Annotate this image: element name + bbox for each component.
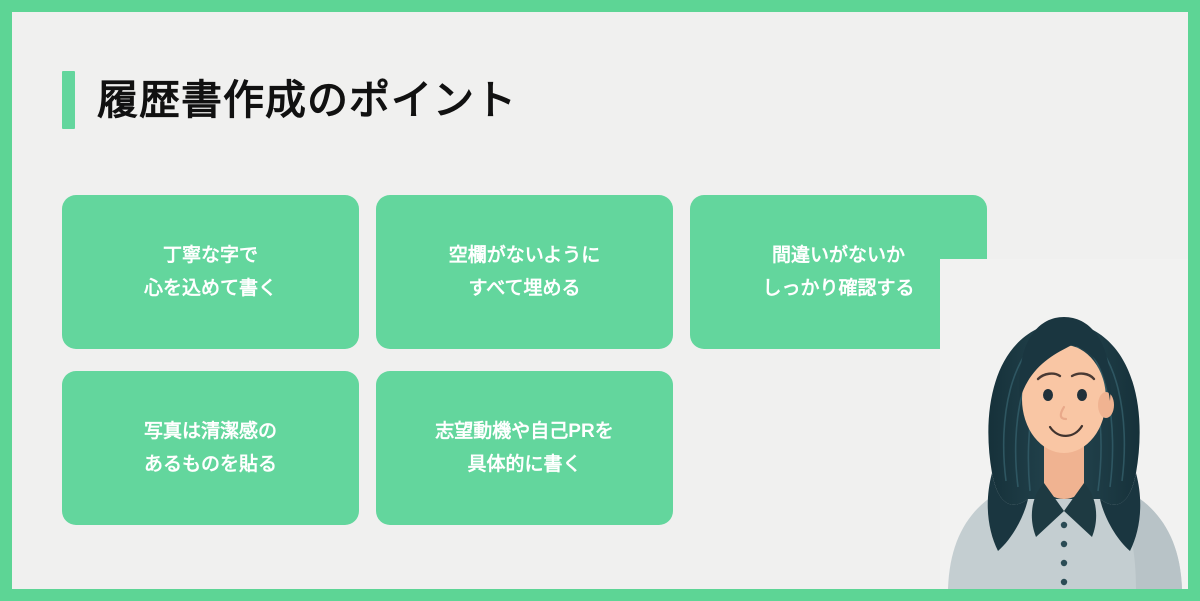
point-card-5-line-1: 志望動機や自己PRを	[435, 415, 613, 448]
woman-portrait-svg	[940, 259, 1188, 589]
woman-portrait-illustration	[940, 259, 1188, 589]
title-accent-bar	[62, 71, 75, 129]
page-title: 履歴書作成のポイント	[97, 80, 517, 121]
point-card-2-line-2: すべて埋める	[469, 272, 581, 305]
point-card-2[interactable]: 空欄がないように すべて埋める	[376, 195, 673, 349]
eye-left	[1043, 389, 1053, 401]
ear	[1098, 392, 1114, 418]
inner-canvas: 履歴書作成のポイント 丁寧な字で 心を込めて書く 空欄がないように すべて埋める…	[12, 12, 1188, 589]
point-card-4-line-2: あるものを貼る	[144, 448, 277, 481]
infographic-banner: 履歴書作成のポイント 丁寧な字で 心を込めて書く 空欄がないように すべて埋める…	[0, 0, 1200, 601]
point-card-3-line-2: しっかり確認する	[762, 272, 914, 305]
eye-right	[1077, 389, 1087, 401]
point-card-5-line-2: 具体的に書く	[467, 448, 581, 481]
point-card-3-line-1: 間違いがないか	[772, 239, 905, 272]
point-card-1[interactable]: 丁寧な字で 心を込めて書く	[62, 195, 359, 349]
page-title-group: 履歴書作成のポイント	[62, 70, 517, 130]
neck	[1044, 445, 1084, 499]
card-row-1: 丁寧な字で 心を込めて書く 空欄がないように すべて埋める 間違いがないか しっ…	[62, 195, 1002, 349]
point-card-1-line-1: 丁寧な字で	[163, 239, 258, 272]
point-card-4[interactable]: 写真は清潔感の あるものを貼る	[62, 371, 359, 525]
card-row-2: 写真は清潔感の あるものを貼る 志望動機や自己PRを 具体的に書く	[62, 371, 1002, 525]
points-card-grid: 丁寧な字で 心を込めて書く 空欄がないように すべて埋める 間違いがないか しっ…	[62, 195, 1002, 547]
point-card-5[interactable]: 志望動機や自己PRを 具体的に書く	[376, 371, 673, 525]
point-card-2-line-1: 空欄がないように	[449, 239, 601, 272]
point-card-1-line-2: 心を込めて書く	[144, 272, 277, 305]
point-card-4-line-1: 写真は清潔感の	[144, 415, 277, 448]
